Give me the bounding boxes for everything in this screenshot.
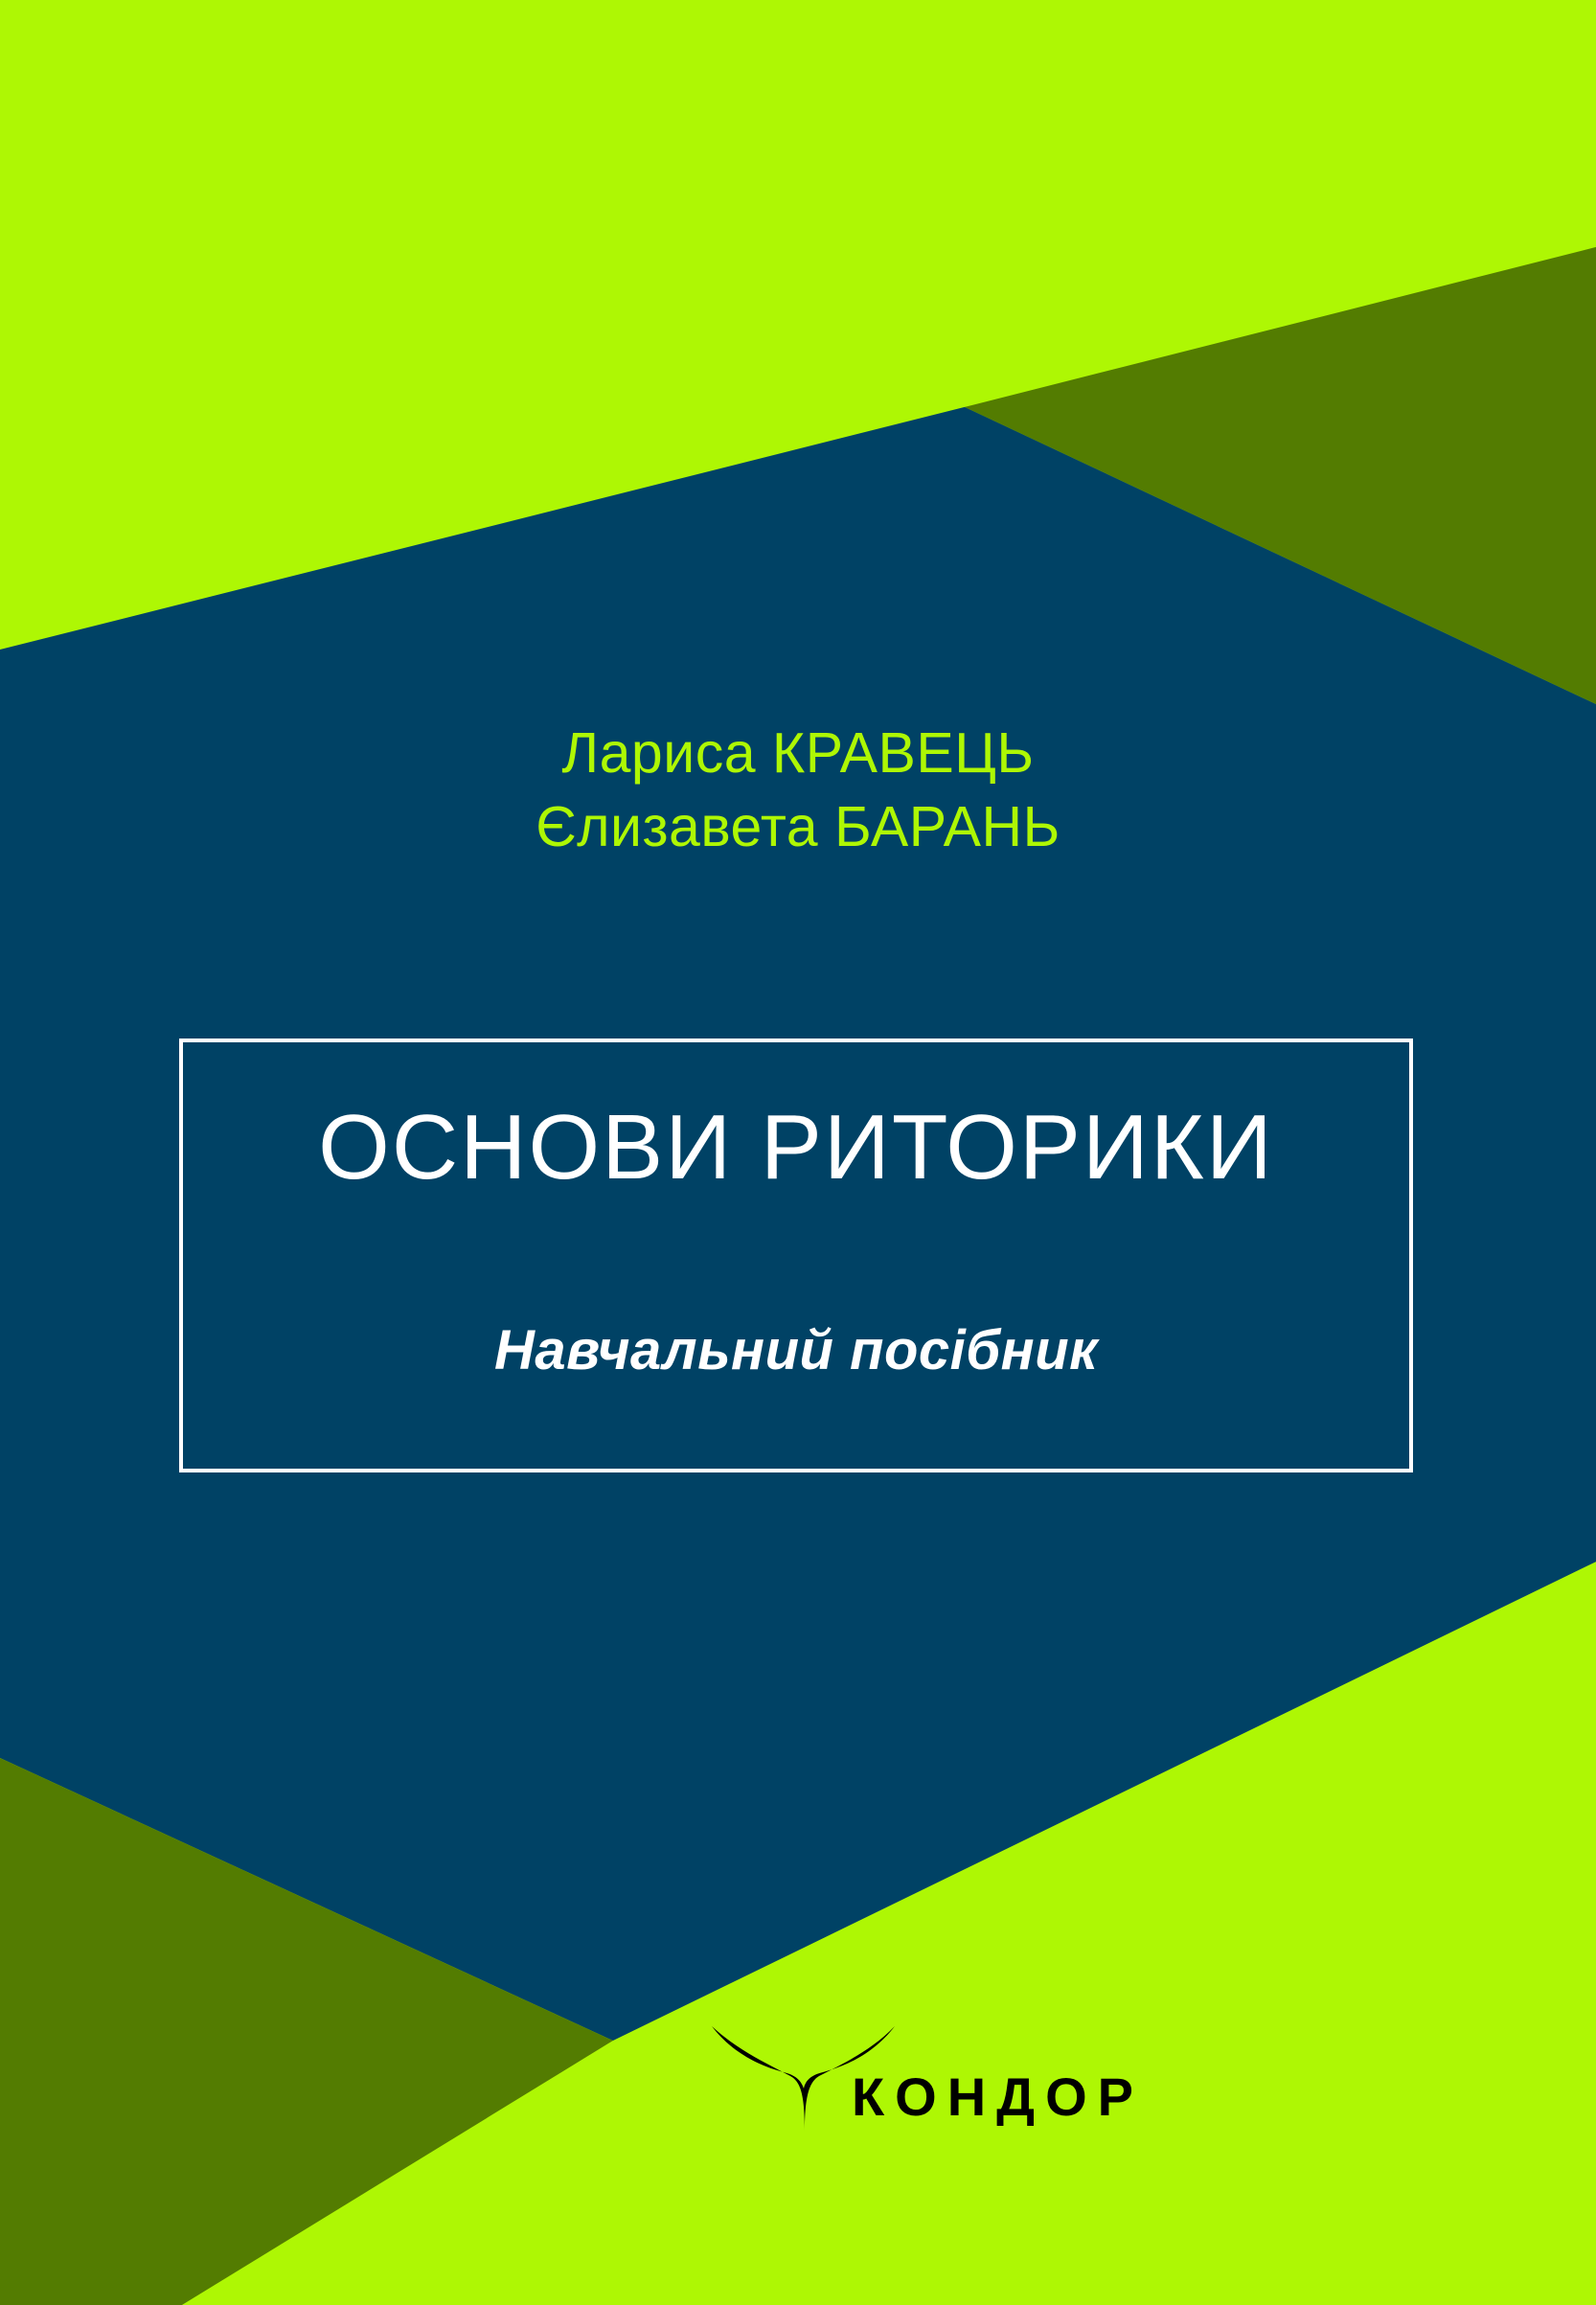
book-subtitle: Навчальний посібник [183, 1318, 1409, 1382]
author-names: Лариса КРАВЕЦЬ Єлизавета БАРАНЬ [0, 717, 1596, 863]
book-title: ОСНОВИ РИТОРИКИ [183, 1095, 1409, 1200]
publisher-logo: КОНДОР [710, 2009, 1122, 2153]
author-name-second: Єлизавета БАРАНЬ [0, 790, 1596, 864]
publisher-name: КОНДОР [852, 2070, 1144, 2124]
book-cover: Лариса КРАВЕЦЬ Єлизавета БАРАНЬ ОСНОВИ Р… [0, 0, 1596, 2305]
author-name-first: Лариса КРАВЕЦЬ [0, 717, 1596, 790]
title-frame: ОСНОВИ РИТОРИКИ Навчальний посібник [179, 1038, 1413, 1472]
